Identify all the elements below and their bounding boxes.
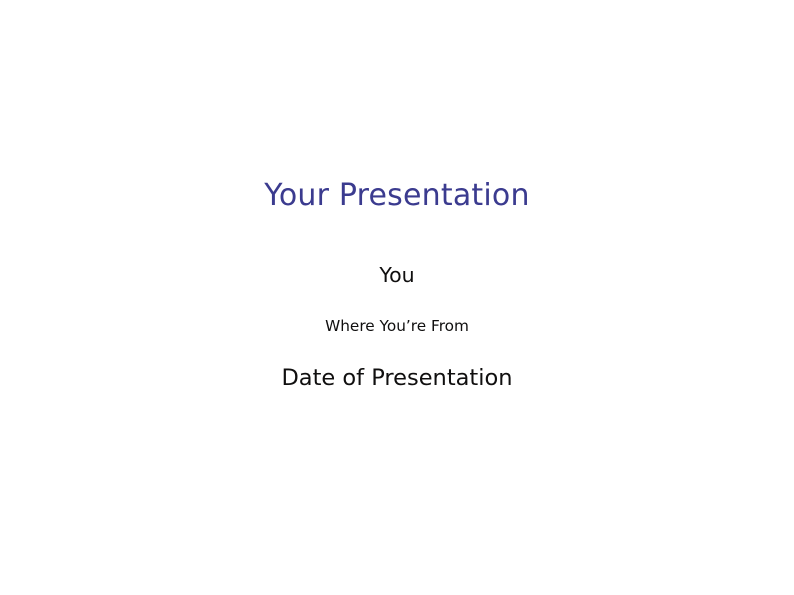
presentation-slide: Your Presentation You Where You’re From … (0, 0, 794, 595)
slide-institute: Where You’re From (0, 319, 794, 334)
slide-date: Date of Presentation (0, 367, 794, 390)
slide-author: You (0, 265, 794, 286)
slide-title: Your Presentation (0, 181, 794, 211)
